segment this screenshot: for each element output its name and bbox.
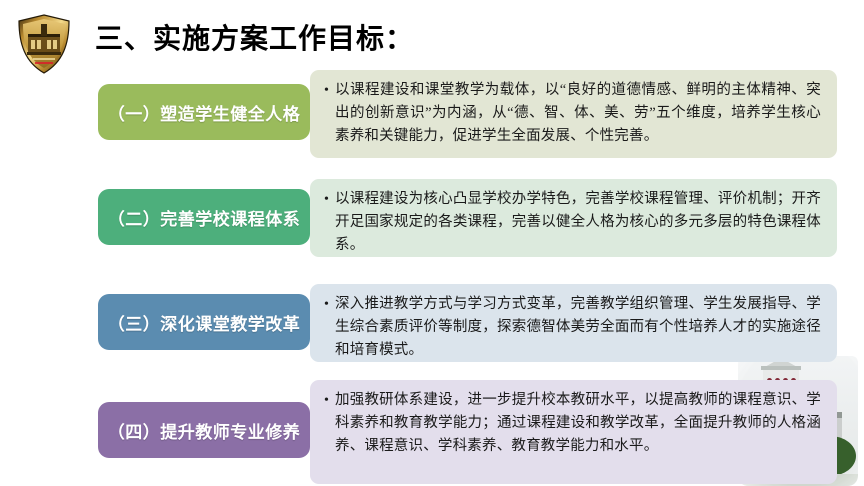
goal-text-4: 加强教研体系建设，进一步提升校本教研水平，以提高教师的课程意识、学科素养和教育教… (335, 389, 821, 458)
goal-row-4: • 加强教研体系建设，进一步提升校本教研水平，以提高教师的课程意识、学科素养和教… (0, 380, 864, 484)
bullet-line: • 深入推进教学方式与学习方式变革，完善教学组织管理、学生发展指导、学生综合素质… (324, 293, 821, 362)
bullet-line: • 加强教研体系建设，进一步提升校本教研水平，以提高教师的课程意识、学科素养和教… (324, 389, 821, 458)
bullet-line: • 以课程建设和课堂教学为载体，以“良好的道德情感、鲜明的主体精神、突出的创新意… (324, 79, 821, 148)
goal-label-3[interactable]: （三）深化课堂教学改革 (98, 294, 310, 350)
bullet-line: • 以课程建设为核心凸显学校办学特色，完善学校课程管理、评价机制；开齐开足国家规… (324, 188, 821, 257)
page-title: 三、实施方案工作目标： (95, 22, 414, 58)
goal-label-2[interactable]: （二）完善学校课程体系 (98, 189, 310, 245)
goal-label-1[interactable]: （一）塑造学生健全人格 (98, 84, 310, 140)
goal-content-box-2: • 以课程建设为核心凸显学校办学特色，完善学校课程管理、评价机制；开齐开足国家规… (310, 179, 837, 257)
goal-label-text-1: （一）塑造学生健全人格 (108, 100, 301, 125)
goal-content-box-4: • 加强教研体系建设，进一步提升校本教研水平，以提高教师的课程意识、学科素养和教… (310, 380, 837, 484)
goal-label-text-2: （二）完善学校课程体系 (108, 205, 301, 230)
bullet-icon: • (324, 79, 335, 102)
goal-label-4[interactable]: （四）提升教师专业修养 (98, 402, 310, 458)
bullet-icon: • (324, 293, 335, 316)
goal-content-box-3: • 深入推进教学方式与学习方式变革，完善教学组织管理、学生发展指导、学生综合素质… (310, 284, 837, 362)
goal-text-3: 深入推进教学方式与学习方式变革，完善教学组织管理、学生发展指导、学生综合素质评价… (335, 293, 821, 362)
bullet-icon: • (324, 389, 335, 412)
goal-text-1: 以课程建设和课堂教学为载体，以“良好的道德情感、鲜明的主体精神、突出的创新意识”… (335, 79, 821, 148)
goal-label-text-4: （四）提升教师专业修养 (108, 418, 301, 443)
goal-label-text-3: （三）深化课堂教学改革 (108, 310, 301, 335)
goal-text-2: 以课程建设为核心凸显学校办学特色，完善学校课程管理、评价机制；开齐开足国家规定的… (335, 188, 821, 257)
school-crest-shield-icon (16, 14, 72, 74)
slide-canvas: 三、实施方案工作目标： • 以课程建设和课堂教学为载体，以“良好的道德情感、鲜明… (0, 0, 864, 486)
goal-row-3: • 深入推进教学方式与学习方式变革，完善教学组织管理、学生发展指导、学生综合素质… (0, 280, 864, 375)
goal-row-2: • 以课程建设为核心凸显学校办学特色，完善学校课程管理、评价机制；开齐开足国家规… (0, 175, 864, 270)
goal-content-box-1: • 以课程建设和课堂教学为载体，以“良好的道德情感、鲜明的主体精神、突出的创新意… (310, 70, 837, 158)
goal-row-1: • 以课程建设和课堂教学为载体，以“良好的道德情感、鲜明的主体精神、突出的创新意… (0, 70, 864, 165)
bullet-icon: • (324, 188, 335, 211)
